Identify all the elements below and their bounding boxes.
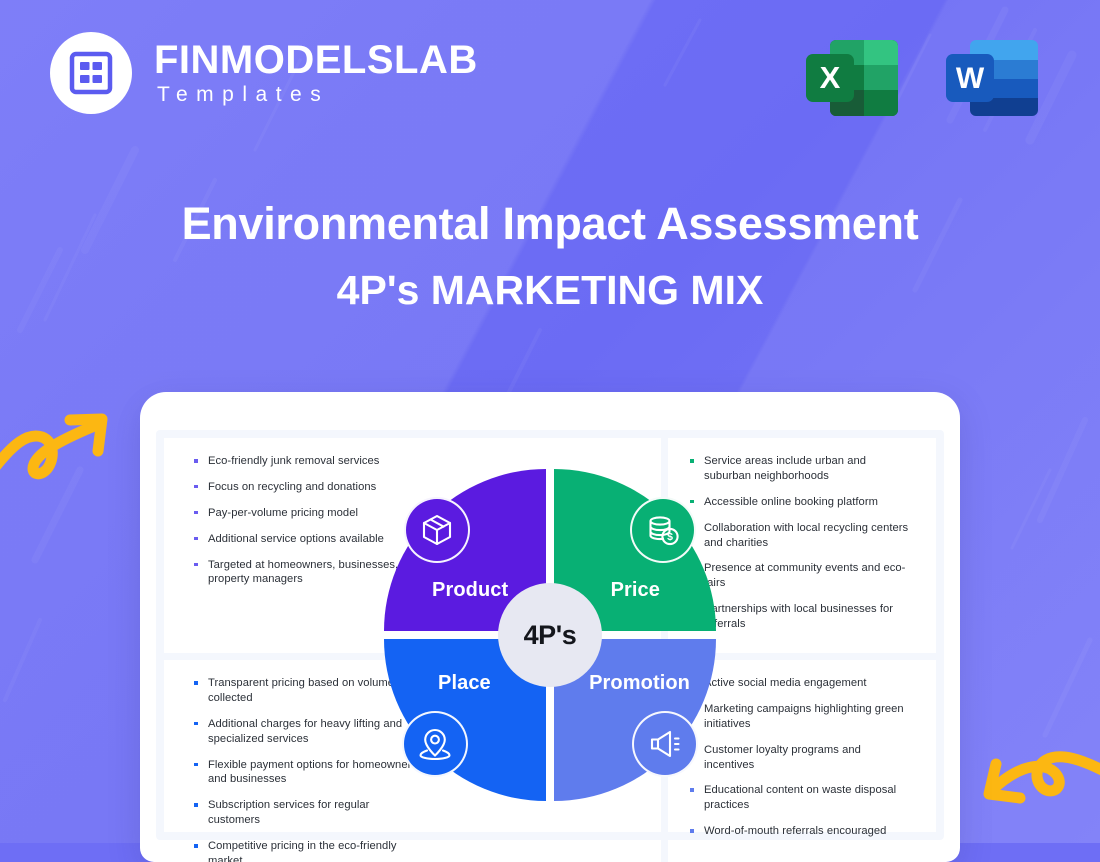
location-pin-icon [402, 711, 468, 777]
bullet-item: Educational content on waste disposal pr… [690, 783, 914, 813]
box-package-icon [404, 497, 470, 563]
bullet-list-price: Service areas include urban and suburban… [690, 454, 914, 632]
page-header: FINMODELSLAB Templates X [50, 32, 1066, 120]
megaphone-icon [632, 711, 698, 777]
wheel-label-product: Product [432, 579, 508, 602]
wheel-center-label: 4P's [524, 620, 577, 651]
squiggly-arrow-up-right-icon [0, 404, 124, 494]
brand-name: FINMODELSLAB [154, 40, 478, 81]
marketing-mix-matrix: Eco-friendly junk removal servicesFocus … [164, 438, 936, 832]
squiggly-arrow-down-left-icon [974, 748, 1100, 841]
bullet-item: Accessible online booking platform [690, 495, 914, 510]
coins-dollar-icon: $ [630, 497, 696, 563]
grid-squares-icon [50, 32, 132, 114]
bullet-list-promotion: Active social media engagementMarketing … [690, 676, 914, 839]
bullet-item: Collaboration with local recycling cente… [690, 521, 914, 551]
wheel-center-hub: 4P's [498, 583, 602, 687]
word-icon: W [942, 32, 1046, 124]
wheel-label-price: Price [611, 579, 660, 602]
svg-text:$: $ [667, 531, 673, 543]
bullet-item: Partnerships with local businesses for r… [690, 602, 914, 632]
brand-tagline: Templates [154, 81, 478, 109]
excel-icon: X [802, 32, 906, 124]
bullet-item: Customer loyalty programs and incentives [690, 743, 914, 773]
bullet-item: Service areas include urban and suburban… [690, 454, 914, 484]
page-subtitle: 4P's MARKETING MIX [0, 267, 1100, 314]
matrix-frame: Eco-friendly junk removal servicesFocus … [156, 430, 944, 840]
bullet-item: Active social media engagement [690, 676, 914, 691]
content-card: Eco-friendly junk removal servicesFocus … [140, 392, 960, 862]
four-ps-wheel: 4P's Product Price Place Promotion [378, 463, 722, 807]
bullet-item: Presence at community events and eco-fai… [690, 561, 914, 591]
wheel-label-place: Place [438, 672, 491, 695]
title-block: Environmental Impact Assessment 4P's MAR… [0, 196, 1100, 314]
page-title: Environmental Impact Assessment [0, 196, 1100, 253]
svg-text:X: X [820, 60, 841, 95]
svg-text:W: W [956, 62, 985, 95]
wheel-label-promotion: Promotion [589, 672, 690, 695]
bullet-item: Marketing campaigns highlighting green i… [690, 702, 914, 732]
bullet-item: Word-of-mouth referrals encouraged [690, 824, 914, 839]
format-icon-group: X W [802, 32, 1046, 124]
